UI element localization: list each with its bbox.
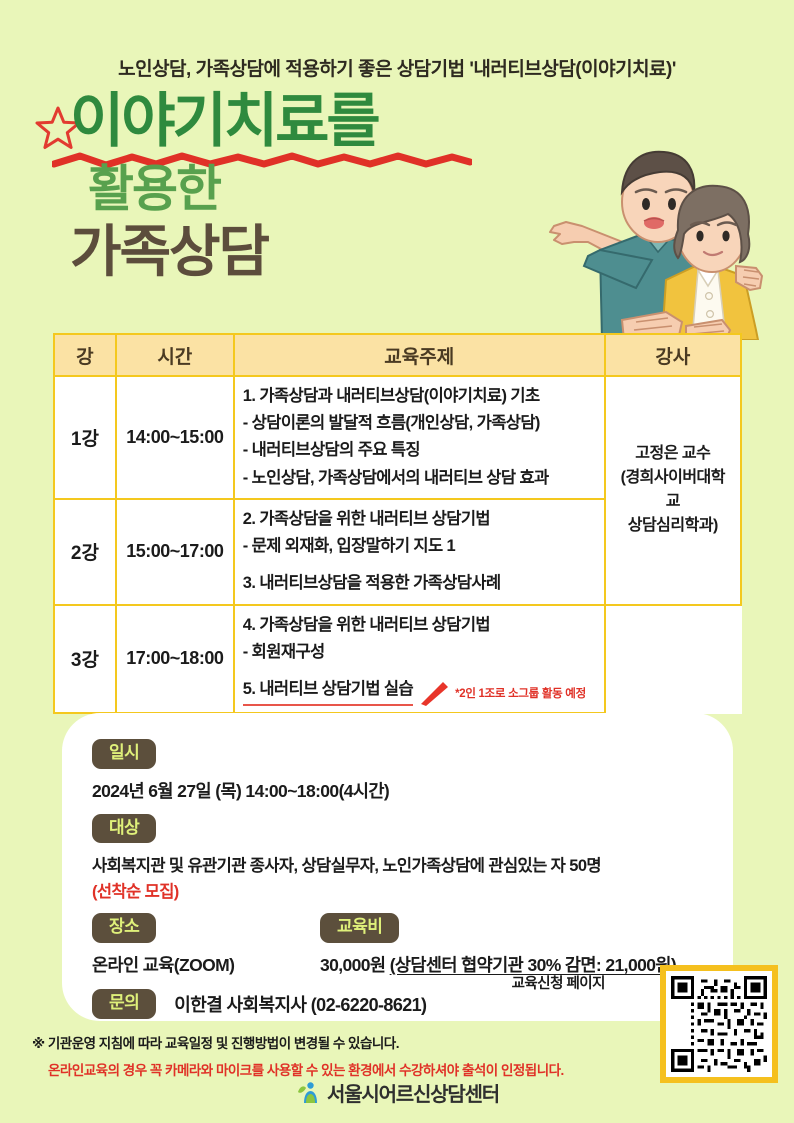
topic-spacer bbox=[243, 666, 596, 676]
target-value: 사회복지관 및 유관기관 종사자, 상담실무자, 노인가족상담에 관심있는 자 … bbox=[92, 852, 703, 876]
title-line-1: 이야기치료를 bbox=[70, 92, 378, 151]
title-line-2: 활용한 bbox=[88, 164, 220, 214]
row2-time: 15:00~17:00 bbox=[116, 499, 234, 605]
date-badge: 일시 bbox=[92, 739, 156, 769]
fee-value: 30,000원 (상담센터 협약기관 30% 감면: 21,000원) bbox=[320, 952, 676, 977]
row1-topic: 1. 가족상담과 내러티브상담(이야기치료) 기초 - 상담이론의 발달적 흐름… bbox=[234, 376, 605, 499]
table-row: 1강 14:00~15:00 1. 가족상담과 내러티브상담(이야기치료) 기초… bbox=[54, 376, 741, 499]
footnotes: ※ 기관운영 지침에 따라 교육일정 및 진행방법이 변경될 수 있습니다. 온… bbox=[32, 1032, 652, 1079]
info-card: 일시 2024년 6월 27일 (목) 14:00~18:00(4시간) 대상 … bbox=[62, 713, 733, 1021]
date-block: 일시 2024년 6월 27일 (목) 14:00~18:00(4시간) bbox=[92, 739, 703, 803]
header-time: 시간 bbox=[116, 334, 234, 376]
header-instructor: 강사 bbox=[605, 334, 741, 376]
table-row: 3강 17:00~18:00 4. 가족상담을 위한 내러티브 상담기법 - 회… bbox=[54, 605, 741, 714]
title-line1-wrapper: 이야기치료를 bbox=[34, 96, 554, 162]
row3-topic-line: 4. 가족상담을 위한 내러티브 상담기법 bbox=[243, 612, 596, 639]
place-badge: 장소 bbox=[92, 913, 156, 943]
topic-spacer bbox=[243, 560, 596, 570]
target-badge: 대상 bbox=[92, 814, 156, 844]
elderly-couple-illustration bbox=[540, 130, 794, 340]
title-line-3: 가족상담 bbox=[70, 224, 268, 280]
practice-note: *2인 1조로 소그룹 활동 예정 bbox=[455, 685, 586, 706]
logo-person-icon bbox=[295, 1080, 321, 1106]
row3-time: 17:00~18:00 bbox=[116, 605, 234, 714]
row1-time: 14:00~15:00 bbox=[116, 376, 234, 499]
row3-session: 3강 bbox=[54, 605, 116, 714]
row1-topic-line: 1. 가족상담과 내러티브상담(이야기치료) 기초 bbox=[243, 383, 596, 410]
instructor-line: 상담심리학과) bbox=[614, 514, 732, 538]
row2-topic-line: 3. 내러티브상담을 적용한 가족상담사례 bbox=[243, 570, 596, 597]
row1-topic-line: - 상담이론의 발달적 흐름(개인상담, 가족상담) bbox=[243, 410, 596, 437]
row2-topic: 2. 가족상담을 위한 내러티브 상담기법 - 문제 외재화, 입장말하기 지도… bbox=[234, 499, 605, 605]
poster-subtitle: 노인상담, 가족상담에 적용하기 좋은 상담기법 '내러티브상담(이야기치료)' bbox=[0, 54, 794, 81]
row1-topic-line: - 내러티브상담의 주요 특징 bbox=[243, 437, 596, 464]
date-value: 2024년 6월 27일 (목) 14:00~18:00(4시간) bbox=[92, 778, 703, 803]
row1-topic-line: - 노인상담, 가족상담에서의 내러티브 상담 효과 bbox=[243, 465, 596, 492]
red-pen-icon bbox=[417, 680, 451, 706]
footnote-2: 온라인교육의 경우 꼭 카메라와 마이크를 사용할 수 있는 환경에서 수강하셔… bbox=[32, 1059, 652, 1079]
contact-row: 문의 이한결 사회복지사 (02-6220-8621) bbox=[92, 989, 703, 1019]
logo-name: 서울시어르신상담센터 bbox=[327, 1078, 499, 1107]
poster-title-block: 이야기치료를 활용한 가족상담 bbox=[34, 96, 554, 162]
qr-code[interactable] bbox=[660, 965, 778, 1083]
row1-session: 1강 bbox=[54, 376, 116, 499]
target-note: (선착순 모집) bbox=[92, 878, 703, 902]
row2-topic-line: 2. 가족상담을 위한 내러티브 상담기법 bbox=[243, 506, 596, 533]
instructor-cell: 고정은 교수 (경희사이버대학교 상담심리학과) bbox=[605, 376, 741, 605]
instructor-line: 고정은 교수 bbox=[614, 442, 732, 466]
fee-badge: 교육비 bbox=[320, 913, 399, 943]
row2-session: 2강 bbox=[54, 499, 116, 605]
footnote-1: ※ 기관운영 지침에 따라 교육일정 및 진행방법이 변경될 수 있습니다. bbox=[32, 1032, 652, 1052]
row2-topic-line: - 문제 외재화, 입장말하기 지도 1 bbox=[243, 533, 596, 560]
schedule-table: 강 시간 교육주제 강사 1강 14:00~15:00 1. 가족상담과 내러티… bbox=[53, 333, 742, 714]
apply-page-label: 교육신청 페이지 bbox=[512, 972, 605, 993]
instructor-line: (경희사이버대학교 bbox=[614, 466, 732, 514]
row3-topic: 4. 가족상담을 위한 내러티브 상담기법 - 회원재구성 5. 내러티브 상담… bbox=[234, 605, 605, 714]
fee-amount: 30,000원 bbox=[320, 955, 390, 975]
place-block: 장소 온라인 교육(ZOOM) bbox=[92, 913, 278, 977]
qr-code-image[interactable] bbox=[671, 976, 767, 1072]
header-session: 강 bbox=[54, 334, 116, 376]
organization-logo: 서울시어르신상담센터 bbox=[0, 1078, 794, 1107]
practice-label: 5. 내러티브 상담기법 실습 bbox=[243, 676, 413, 706]
place-fee-row: 장소 온라인 교육(ZOOM) 교육비 30,000원 (상담센터 협약기관 3… bbox=[92, 913, 703, 977]
practice-row: 5. 내러티브 상담기법 실습 *2인 1조로 소그룹 활동 예정 bbox=[243, 676, 596, 706]
row3-topic-line: - 회원재구성 bbox=[243, 639, 596, 666]
header-topic: 교육주제 bbox=[234, 334, 605, 376]
fee-block: 교육비 30,000원 (상담센터 협약기관 30% 감면: 21,000원) bbox=[320, 913, 676, 977]
contact-badge: 문의 bbox=[92, 989, 156, 1019]
contact-value: 이한결 사회복지사 (02-6220-8621) bbox=[174, 991, 426, 1017]
place-value: 온라인 교육(ZOOM) bbox=[92, 952, 278, 977]
target-block: 대상 사회복지관 및 유관기관 종사자, 상담실무자, 노인가족상담에 관심있는… bbox=[92, 814, 703, 903]
table-header-row: 강 시간 교육주제 강사 bbox=[54, 334, 741, 376]
